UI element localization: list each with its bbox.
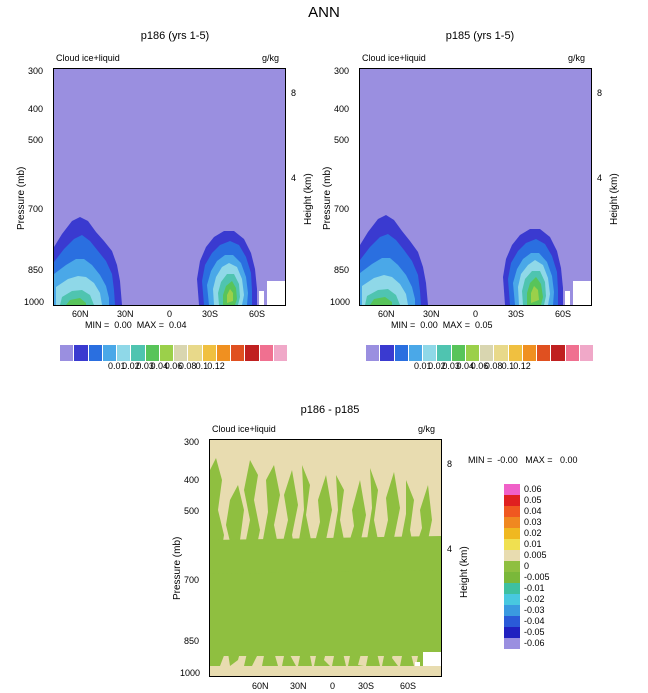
ytick-p185-850: 850	[334, 265, 349, 275]
legend-label: -0.005	[524, 572, 550, 583]
contour-plot-diff	[210, 440, 441, 676]
panel-var-label-p186: Cloud ice+liquid	[56, 53, 120, 63]
legend-label: 0.005	[524, 550, 547, 561]
colorbar-swatch	[274, 345, 287, 361]
plot-area-p186	[53, 68, 286, 306]
legend-row: -0.03	[504, 605, 550, 616]
ytick-diff-700: 700	[184, 575, 199, 585]
page-title: ANN	[0, 4, 648, 21]
legend-label: -0.01	[524, 583, 545, 594]
legend-label: 0.03	[524, 517, 542, 528]
ytick-diff-300: 300	[184, 437, 199, 447]
xtick-p185-60N: 60N	[378, 309, 395, 319]
panel-units-p186: g/kg	[262, 53, 279, 63]
legend-swatch	[504, 616, 520, 627]
colorbar-swatch	[409, 345, 423, 361]
panel-title-p186: p186 (yrs 1-5)	[50, 30, 300, 42]
minmax-p186: MIN = 0.00 MAX = 0.04	[85, 320, 187, 330]
legend-label: 0.01	[524, 539, 542, 550]
legend-row: 0.03	[504, 517, 550, 528]
xtick-diff-0: 0	[330, 681, 335, 691]
colorbar-tick-label: 0.12	[207, 361, 225, 371]
axis-title-pressure-diff: Pressure (mb)	[172, 537, 183, 600]
colorbar-swatch	[188, 345, 202, 361]
ytick-diff-400: 400	[184, 475, 199, 485]
colorbar-swatch	[466, 345, 480, 361]
colorbar-labels-p185: 0.010.020.030.040.060.080.10.12	[366, 361, 593, 373]
panel-units-diff: g/kg	[418, 424, 435, 434]
legend-label: -0.05	[524, 627, 545, 638]
legend-row: -0.05	[504, 627, 550, 638]
colorbar-swatch	[89, 345, 103, 361]
panel-units-p185: g/kg	[568, 53, 585, 63]
colorbar-swatch	[566, 345, 580, 361]
colorbar-diff: 0.060.050.040.030.020.010.0050-0.005-0.0…	[504, 484, 550, 649]
colorbar-swatch	[174, 345, 188, 361]
legend-label: -0.04	[524, 616, 545, 627]
colorbar-swatch	[146, 345, 160, 361]
ytick-p186-500: 500	[28, 135, 43, 145]
legend-label: -0.02	[524, 594, 545, 605]
legend-row: 0.01	[504, 539, 550, 550]
ytick-p186-300: 300	[28, 66, 43, 76]
ytick-p186-400: 400	[28, 104, 43, 114]
colorbar-tick-label: 0.1	[502, 361, 515, 371]
ytick-right-diff-4: 4	[447, 544, 452, 554]
minmax-p185: MIN = 0.00 MAX = 0.05	[391, 320, 493, 330]
legend-swatch	[504, 627, 520, 638]
ytick-right-p186-4: 4	[291, 173, 296, 183]
plot-area-diff	[209, 439, 442, 677]
axis-title-height-diff: Height (km)	[459, 546, 470, 598]
xtick-p185-30S: 30S	[508, 309, 524, 319]
legend-swatch	[504, 561, 520, 572]
colorbar-tick-label: 0.1	[196, 361, 209, 371]
ytick-right-p186-8: 8	[291, 88, 296, 98]
colorbar-swatch	[480, 345, 494, 361]
plot-area-p185	[359, 68, 592, 306]
xtick-p186-30N: 30N	[117, 309, 134, 319]
ytick-p186-700: 700	[28, 204, 43, 214]
colorbar-swatch	[437, 345, 451, 361]
colorbar-swatch	[217, 345, 231, 361]
colorbar-swatch	[509, 345, 523, 361]
xtick-p186-60N: 60N	[72, 309, 89, 319]
colorbar-swatch	[537, 345, 551, 361]
legend-swatch	[504, 484, 520, 495]
legend-row: -0.005	[504, 572, 550, 583]
legend-label: 0	[524, 561, 529, 572]
colorbar-swatches-p186	[60, 345, 287, 361]
panel-title-p185: p185 (yrs 1-5)	[355, 30, 605, 42]
legend-swatch	[504, 539, 520, 550]
xtick-p185-0: 0	[473, 309, 478, 319]
colorbar-swatch	[74, 345, 88, 361]
ytick-p185-500: 500	[334, 135, 349, 145]
colorbar-labels-p186: 0.010.020.030.040.060.080.10.12	[60, 361, 287, 373]
xtick-p185-60S: 60S	[555, 309, 571, 319]
colorbar-swatch	[203, 345, 217, 361]
legend-row: 0.005	[504, 550, 550, 561]
colorbar-swatch	[231, 345, 245, 361]
ytick-p186-1000: 1000	[24, 297, 44, 307]
panel-var-label-diff: Cloud ice+liquid	[212, 424, 276, 434]
ytick-diff-850: 850	[184, 636, 199, 646]
ytick-p185-700: 700	[334, 204, 349, 214]
axis-title-pressure-p186: Pressure (mb)	[16, 167, 27, 230]
legend-swatch	[504, 517, 520, 528]
minmax-diff: MIN = -0.00 MAX = 0.00	[468, 455, 578, 465]
colorbar-swatch	[380, 345, 394, 361]
ytick-diff-500: 500	[184, 506, 199, 516]
legend-swatch	[504, 528, 520, 539]
legend-swatch	[504, 605, 520, 616]
colorbar-swatch	[366, 345, 380, 361]
legend-label: 0.02	[524, 528, 542, 539]
legend-row: -0.04	[504, 616, 550, 627]
axis-title-pressure-p185: Pressure (mb)	[322, 167, 333, 230]
ytick-p185-400: 400	[334, 104, 349, 114]
xtick-p185-30N: 30N	[423, 309, 440, 319]
colorbar-swatch	[551, 345, 565, 361]
legend-row: 0.04	[504, 506, 550, 517]
colorbar-tick-label: 0.08	[179, 361, 197, 371]
colorbar-tick-label: 0.12	[513, 361, 531, 371]
colorbar-swatch	[452, 345, 466, 361]
colorbar-swatch	[494, 345, 508, 361]
legend-swatch	[504, 572, 520, 583]
xtick-diff-30N: 30N	[290, 681, 307, 691]
legend-label: -0.06	[524, 638, 545, 649]
axis-title-height-p185: Height (km)	[609, 173, 620, 225]
contour-plot-p185	[360, 69, 591, 305]
legend-swatch	[504, 495, 520, 506]
xtick-p186-0: 0	[167, 309, 172, 319]
colorbar-swatch	[103, 345, 117, 361]
legend-label: 0.05	[524, 495, 542, 506]
xtick-diff-60S: 60S	[400, 681, 416, 691]
legend-row: -0.02	[504, 594, 550, 605]
colorbar-swatch	[160, 345, 174, 361]
legend-row: -0.06	[504, 638, 550, 649]
ytick-right-p185-8: 8	[597, 88, 602, 98]
colorbar-tick-label: 0.08	[485, 361, 503, 371]
legend-row: 0	[504, 561, 550, 572]
ytick-p185-300: 300	[334, 66, 349, 76]
ytick-p185-1000: 1000	[330, 297, 350, 307]
legend-swatch	[504, 638, 520, 649]
colorbar-swatches-p185	[366, 345, 593, 361]
ytick-right-diff-8: 8	[447, 459, 452, 469]
colorbar-p185: 0.010.020.030.040.060.080.10.12	[366, 345, 593, 373]
legend-label: 0.04	[524, 506, 542, 517]
panel-title-diff: p186 - p185	[205, 404, 455, 416]
xtick-p186-60S: 60S	[249, 309, 265, 319]
contour-plot-p186	[54, 69, 285, 305]
xtick-diff-30S: 30S	[358, 681, 374, 691]
legend-label: 0.06	[524, 484, 542, 495]
colorbar-swatch	[523, 345, 537, 361]
ytick-diff-1000: 1000	[180, 668, 200, 678]
legend-swatch	[504, 594, 520, 605]
legend-row: 0.05	[504, 495, 550, 506]
colorbar-swatch	[423, 345, 437, 361]
legend-swatch	[504, 550, 520, 561]
legend-row: 0.06	[504, 484, 550, 495]
colorbar-swatch	[117, 345, 131, 361]
legend-swatch	[504, 506, 520, 517]
panel-var-label-p185: Cloud ice+liquid	[362, 53, 426, 63]
colorbar-swatch	[395, 345, 409, 361]
legend-swatch	[504, 583, 520, 594]
colorbar-swatch	[245, 345, 259, 361]
ytick-p186-850: 850	[28, 265, 43, 275]
xtick-diff-60N: 60N	[252, 681, 269, 691]
colorbar-swatch	[131, 345, 145, 361]
colorbar-p186: 0.010.020.030.040.060.080.10.12	[60, 345, 287, 373]
colorbar-swatch	[60, 345, 74, 361]
xtick-p186-30S: 30S	[202, 309, 218, 319]
colorbar-swatch	[260, 345, 274, 361]
axis-title-height-p186: Height (km)	[303, 173, 314, 225]
colorbar-swatch	[580, 345, 593, 361]
legend-label: -0.03	[524, 605, 545, 616]
legend-row: -0.01	[504, 583, 550, 594]
legend-row: 0.02	[504, 528, 550, 539]
ytick-right-p185-4: 4	[597, 173, 602, 183]
